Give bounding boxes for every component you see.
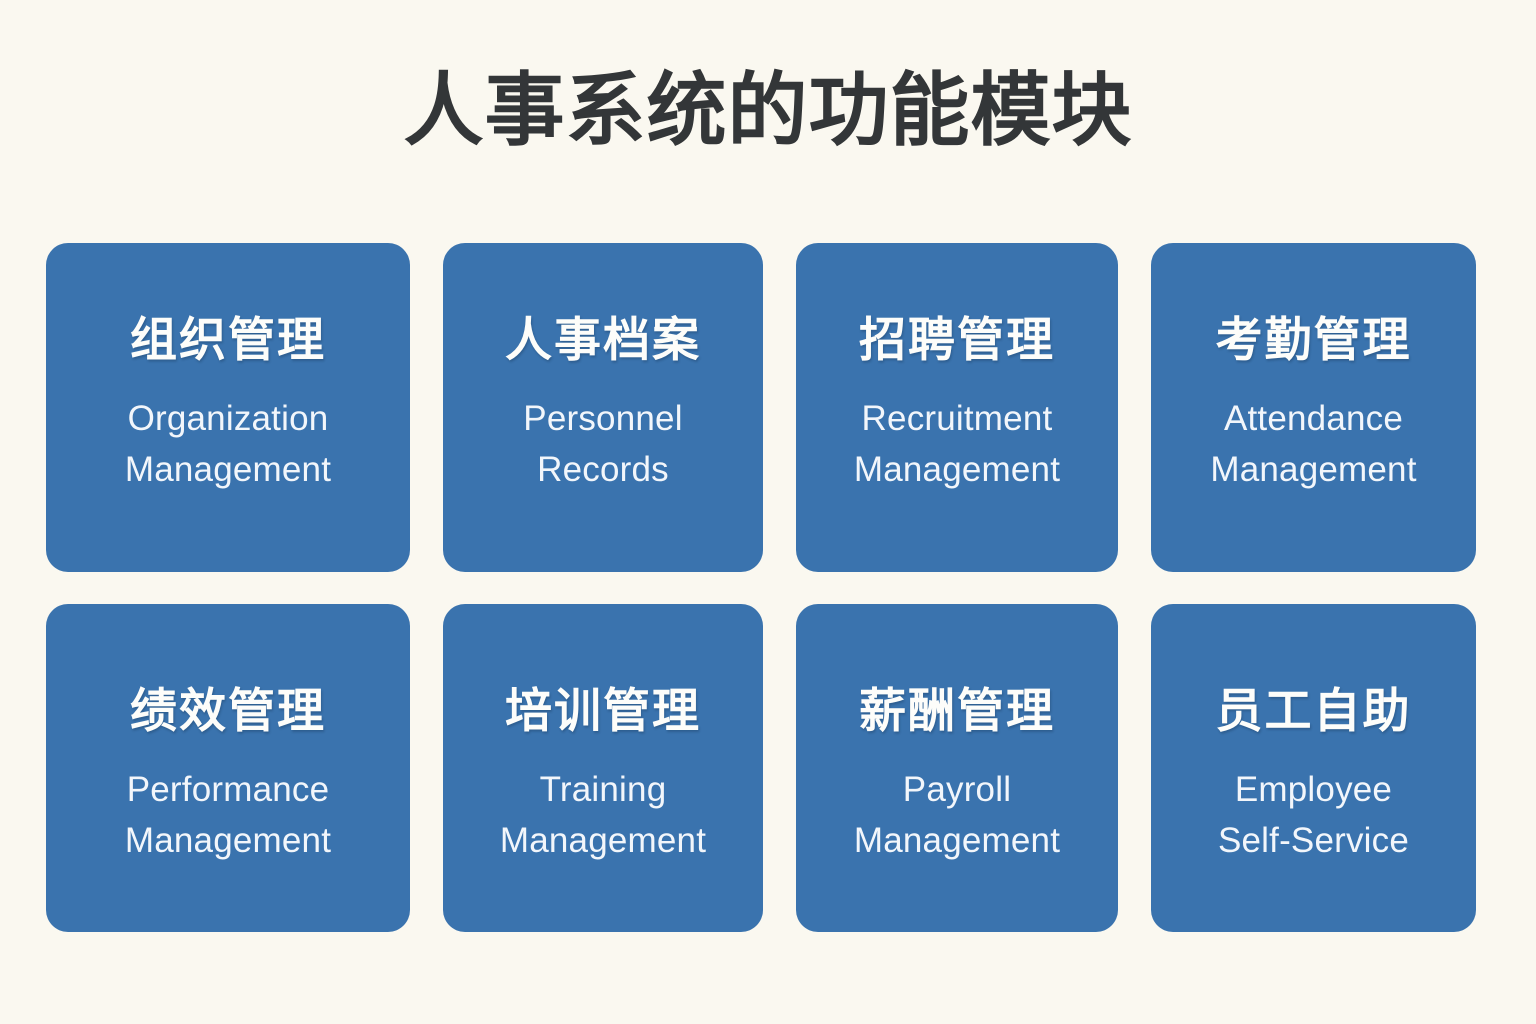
module-subtitle-en: Organization Management: [125, 393, 331, 495]
module-subtitle-en: Performance Management: [125, 764, 331, 866]
module-title-cn: 员工自助: [1216, 682, 1412, 740]
module-card-attendance-management[interactable]: 考勤管理 Attendance Management: [1151, 243, 1476, 572]
module-subtitle-line-2: Management: [125, 815, 331, 866]
module-subtitle-line-2: Management: [854, 444, 1060, 495]
module-subtitle-en: Training Management: [500, 764, 706, 866]
module-title-cn: 人事档案: [505, 311, 701, 369]
module-title-cn: 薪酬管理: [859, 682, 1055, 740]
module-title-cn: 绩效管理: [130, 682, 326, 740]
module-title-cn: 组织管理: [130, 311, 326, 369]
module-subtitle-line-1: Performance: [125, 764, 331, 815]
module-subtitle-line-1: Payroll: [854, 764, 1060, 815]
module-title-cn: 招聘管理: [859, 311, 1055, 369]
module-subtitle-line-2: Management: [500, 815, 706, 866]
module-card-employee-self-service[interactable]: 员工自助 Employee Self-Service: [1151, 604, 1476, 932]
module-subtitle-en: Personnel Records: [523, 393, 682, 495]
module-subtitle-line-1: Attendance: [1210, 393, 1416, 444]
module-subtitle-line-2: Management: [1210, 444, 1416, 495]
module-card-personnel-records[interactable]: 人事档案 Personnel Records: [443, 243, 763, 572]
module-card-recruitment-management[interactable]: 招聘管理 Recruitment Management: [796, 243, 1118, 572]
module-card-organization-management[interactable]: 组织管理 Organization Management: [46, 243, 410, 572]
module-subtitle-en: Employee Self-Service: [1218, 764, 1409, 866]
module-subtitle-line-2: Management: [854, 815, 1060, 866]
module-subtitle-line-1: Personnel: [523, 393, 682, 444]
module-subtitle-line-2: Management: [125, 444, 331, 495]
module-subtitle-en: Recruitment Management: [854, 393, 1060, 495]
module-subtitle-line-2: Self-Service: [1218, 815, 1409, 866]
module-card-payroll-management[interactable]: 薪酬管理 Payroll Management: [796, 604, 1118, 932]
module-grid: 组织管理 Organization Management 人事档案 Person…: [46, 243, 1475, 932]
page-title: 人事系统的功能模块: [0, 62, 1536, 160]
slide-root: 人事系统的功能模块 组织管理 Organization Management 人…: [0, 0, 1536, 1024]
module-subtitle-line-2: Records: [523, 444, 682, 495]
module-subtitle-line-1: Training: [500, 764, 706, 815]
module-card-training-management[interactable]: 培训管理 Training Management: [443, 604, 763, 932]
module-title-cn: 培训管理: [505, 682, 701, 740]
module-subtitle-line-1: Organization: [125, 393, 331, 444]
module-subtitle-line-1: Recruitment: [854, 393, 1060, 444]
module-title-cn: 考勤管理: [1216, 311, 1412, 369]
module-card-performance-management[interactable]: 绩效管理 Performance Management: [46, 604, 410, 932]
module-subtitle-en: Payroll Management: [854, 764, 1060, 866]
module-subtitle-en: Attendance Management: [1210, 393, 1416, 495]
module-subtitle-line-1: Employee: [1218, 764, 1409, 815]
